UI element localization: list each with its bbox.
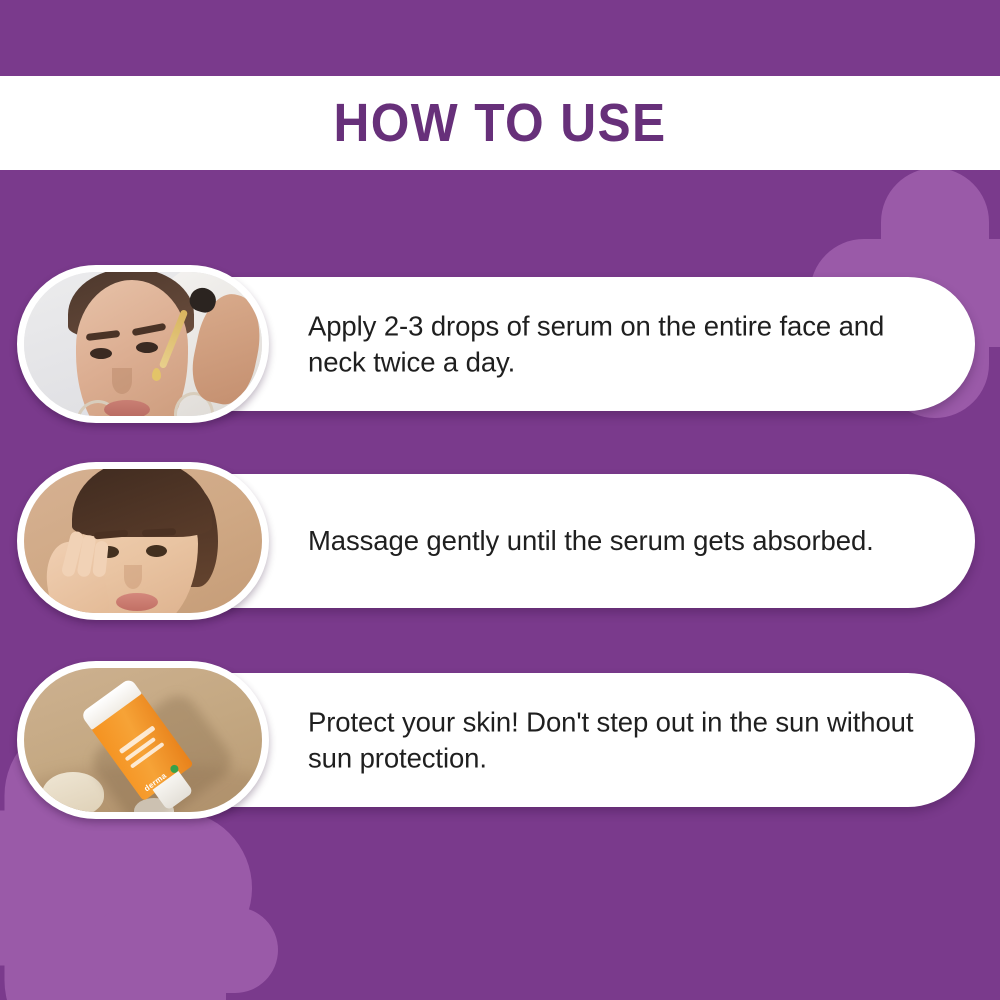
step-thumbnail: [17, 265, 269, 423]
step-thumbnail: [17, 462, 269, 620]
step-instruction-text: Protect your skin! Don't step out in the…: [308, 704, 925, 776]
serum-application-photo: [24, 272, 262, 416]
step-instruction-text: Massage gently until the serum gets abso…: [308, 523, 925, 559]
sunscreen-tube-photo: derma: [24, 668, 262, 812]
step-card: Massage gently until the serum gets abso…: [25, 474, 975, 608]
step-instruction-text: Apply 2-3 drops of serum on the entire f…: [308, 308, 925, 380]
step-card: Apply 2-3 drops of serum on the entire f…: [25, 277, 975, 411]
face-massage-photo: [24, 469, 262, 613]
poster-root: HOW TO USE ar gga: [0, 0, 1000, 1000]
step-thumbnail: derma: [17, 661, 269, 819]
step-card: derma Protect your skin! Don't step out …: [25, 673, 975, 807]
steps-list: Apply 2-3 drops of serum on the entire f…: [0, 0, 1000, 1000]
